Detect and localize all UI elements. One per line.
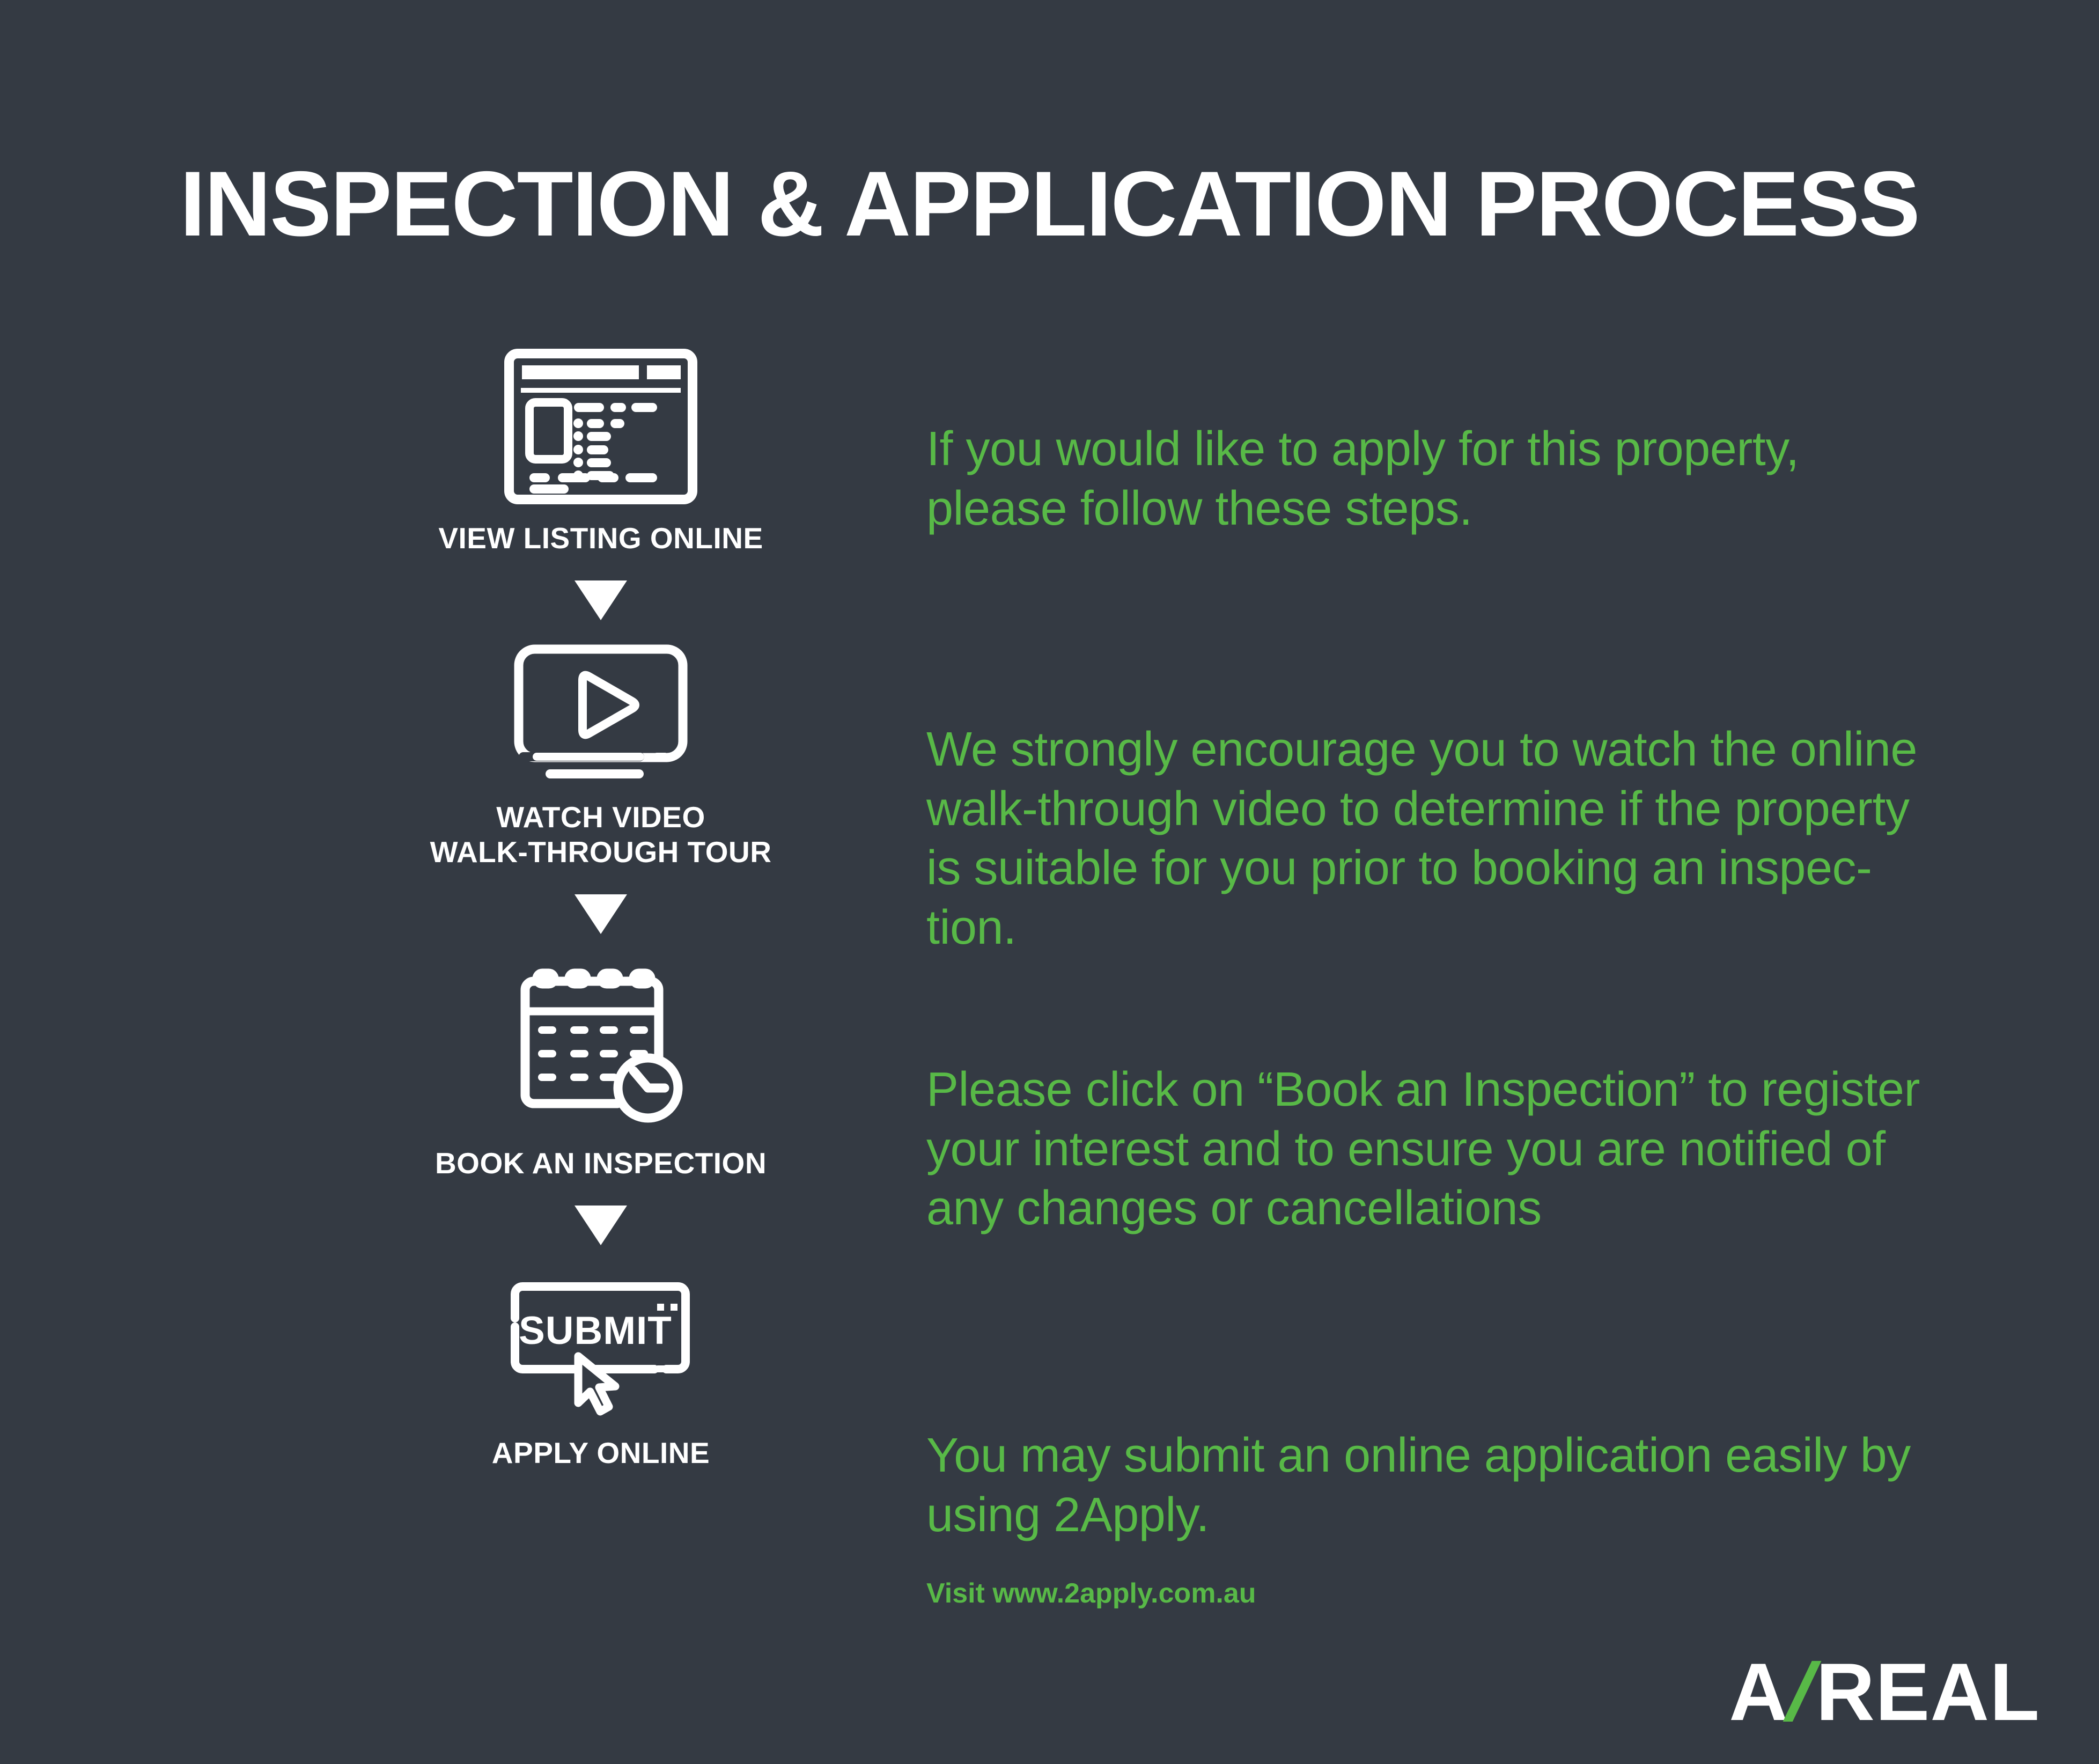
video-play-monitor-icon (512, 644, 689, 786)
process-flow-column: VIEW LISTING ONLINE WATCH VIDEO WALK-THR… (300, 349, 901, 1470)
listing-page-icon (504, 349, 697, 507)
brand-logo: A / REAL (1729, 1651, 2040, 1733)
infographic-page: INSPECTION & APPLICATION PROCESS (0, 0, 2099, 1764)
step-label-watch-video: WATCH VIDEO WALK-THROUGH TOUR (430, 800, 772, 870)
step-apply-online: SUBMIT APPLY ONLINE (300, 1269, 901, 1471)
step-label-view-listing-online: VIEW LISTING ONLINE (438, 521, 763, 556)
submit-button-cursor-icon: SUBMIT (494, 1269, 708, 1422)
step-label-book-an-inspection: BOOK AN INSPECTION (435, 1146, 767, 1181)
logo-word-real: REAL (1816, 1651, 2040, 1733)
down-triangle-arrow-icon-1 (575, 580, 627, 620)
paragraph-apply: You may submit an online application eas… (926, 1426, 1924, 1545)
step-book-an-inspection: BOOK AN INSPECTION (300, 958, 901, 1181)
paragraph-intro: If you would like to apply for this prop… (926, 420, 1924, 538)
down-triangle-arrow-icon-2 (575, 894, 627, 934)
visit-link-text[interactable]: Visit www.2apply.com.au (926, 1577, 1256, 1609)
logo-letter-a: A (1729, 1651, 1788, 1733)
paragraph-inspection: Please click on “Book an Inspection” to … (926, 1060, 1924, 1238)
calendar-clock-icon (512, 958, 689, 1132)
step-view-listing-online: VIEW LISTING ONLINE (300, 349, 901, 556)
paragraph-video: We strongly encourage you to watch the o… (926, 720, 1924, 958)
step-label-apply-online: APPLY ONLINE (492, 1436, 710, 1471)
page-title: INSPECTION & APPLICATION PROCESS (0, 156, 2099, 253)
down-triangle-arrow-icon-3 (575, 1206, 627, 1245)
step-watch-video-walkthrough: WATCH VIDEO WALK-THROUGH TOUR (300, 644, 901, 870)
svg-text:SUBMIT: SUBMIT (519, 1309, 672, 1353)
